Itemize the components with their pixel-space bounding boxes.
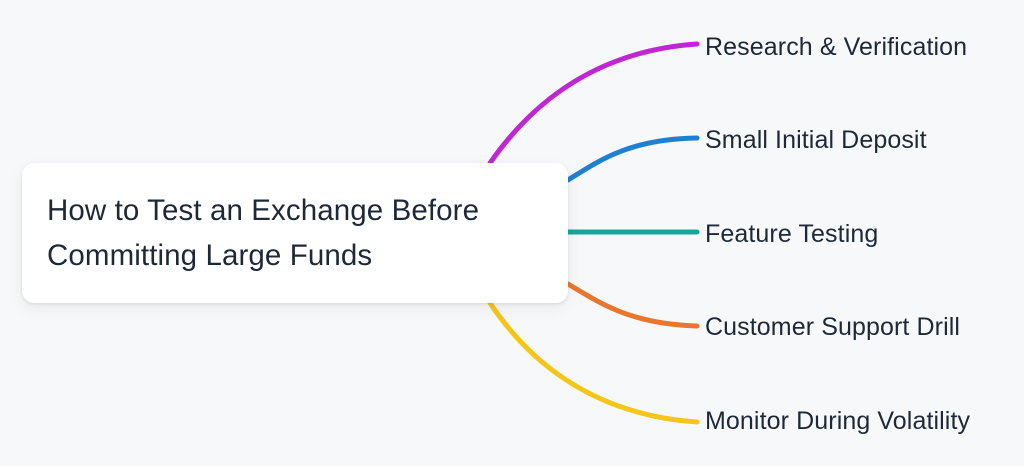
- mindmap-canvas: How to Test an Exchange Before Committin…: [0, 0, 1024, 466]
- central-node[interactable]: How to Test an Exchange Before Committin…: [22, 163, 568, 303]
- branch-label-customer-support-drill[interactable]: Customer Support Drill: [705, 312, 960, 342]
- branch-connector-customer-support-drill: [568, 284, 697, 326]
- branch-connector-research-verification: [490, 44, 697, 163]
- branch-label-feature-testing[interactable]: Feature Testing: [705, 219, 878, 249]
- central-node-title: How to Test an Exchange Before Committin…: [47, 188, 544, 278]
- branch-connector-monitor-during-volatility: [490, 303, 697, 422]
- branch-connector-small-initial-deposit: [568, 138, 697, 180]
- branch-label-research-verification[interactable]: Research & Verification: [705, 32, 967, 62]
- branch-label-monitor-during-volatility[interactable]: Monitor During Volatility: [705, 406, 970, 436]
- branch-label-small-initial-deposit[interactable]: Small Initial Deposit: [705, 125, 927, 155]
